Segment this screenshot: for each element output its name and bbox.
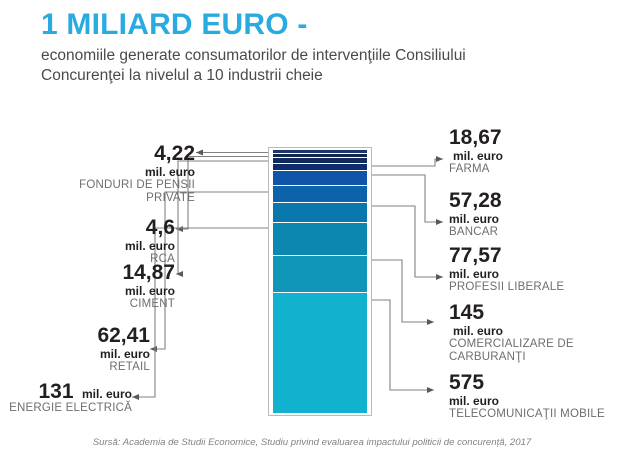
callout-value: 131 — [38, 380, 73, 403]
bar-segment — [273, 293, 367, 413]
bar-segment — [273, 186, 367, 202]
callout-value: 57,28 — [449, 190, 619, 212]
stacked-bar-chart — [273, 150, 367, 413]
bar-segment — [273, 164, 367, 170]
callout-industry: TELECOMUNICAŢII MOBILE — [449, 408, 624, 421]
callout-industry: PROFESII LIBERALE — [449, 281, 619, 294]
bar-segment — [273, 158, 367, 163]
bar-segment — [273, 150, 367, 153]
callout-profesii-liberale: 77,57 mil. euro PROFESII LIBERALE — [449, 245, 619, 294]
callout-industry: COMERCIALIZARE DE CARBURANŢI — [449, 338, 619, 364]
callout-unit: mil. euro — [40, 284, 175, 298]
callout-value: 575 — [449, 372, 624, 394]
callout-fonduri-de-pensii-private: 4,22 mil. euro FONDURI DE PENSII PRIVATE — [40, 143, 195, 205]
callout-farma: 18,67 mil. euro FARMA — [449, 127, 619, 176]
callout-telecomunicatii-mobile: 575 mil. euro TELECOMUNICAŢII MOBILE — [449, 372, 624, 421]
callout-value: 145 — [449, 302, 619, 324]
callout-unit: mil. euro — [449, 267, 619, 281]
callout-retail: 62,41 mil. euro RETAIL — [20, 325, 150, 374]
callout-ciment: 14,87 mil. euro CIMENT — [40, 262, 175, 311]
bar-segment — [273, 223, 367, 255]
callout-industry: BANCAR — [449, 226, 619, 239]
page-title: 1 MILIARD EURO - — [41, 8, 581, 42]
bar-segment — [273, 203, 367, 222]
callout-value: 77,57 — [449, 245, 619, 267]
callout-industry: ENERGIE ELECTRICĂ — [0, 402, 132, 415]
infographic-root: 1 MILIARD EURO - economiile generate con… — [0, 0, 624, 469]
callout-unit: mil. euro — [449, 149, 619, 163]
callout-value: 4,22 — [40, 143, 195, 165]
callout-energie-electrica: 131 mil. euro ENERGIE ELECTRICĂ — [0, 381, 132, 415]
callout-unit: mil. euro — [449, 394, 624, 408]
callout-unit: mil. euro — [449, 212, 619, 226]
callout-rca: 4,6 mil. euro RCA — [40, 217, 175, 266]
header: 1 MILIARD EURO - economiile generate con… — [41, 8, 581, 85]
callout-value: 18,67 — [449, 127, 619, 149]
bar-segment — [273, 171, 367, 185]
callout-unit: mil. euro — [40, 239, 175, 253]
page-subtitle: economiile generate consumatorilor de in… — [41, 46, 501, 85]
callout-value: 4,6 — [40, 217, 175, 239]
callout-unit: mil. euro — [449, 324, 619, 338]
callout-unit: mil. euro — [20, 347, 150, 361]
callout-unit: mil. euro — [82, 387, 132, 401]
callout-industry: CIMENT — [40, 298, 175, 311]
bar-segment — [273, 154, 367, 157]
callout-value: 14,87 — [40, 262, 175, 284]
source-note: Sursă: Academia de Studii Economice, Stu… — [0, 437, 624, 448]
callout-industry: FONDURI DE PENSII PRIVATE — [40, 179, 195, 205]
callout-industry: FARMA — [449, 163, 619, 176]
callout-value: 62,41 — [20, 325, 150, 347]
callout-bancar: 57,28 mil. euro BANCAR — [449, 190, 619, 239]
callout-industry: RETAIL — [20, 361, 150, 374]
callout-comercializare-de-carburanti: 145 mil. euro COMERCIALIZARE DE CARBURAN… — [449, 302, 619, 364]
bar-segment — [273, 256, 367, 292]
callout-unit: mil. euro — [40, 165, 195, 179]
